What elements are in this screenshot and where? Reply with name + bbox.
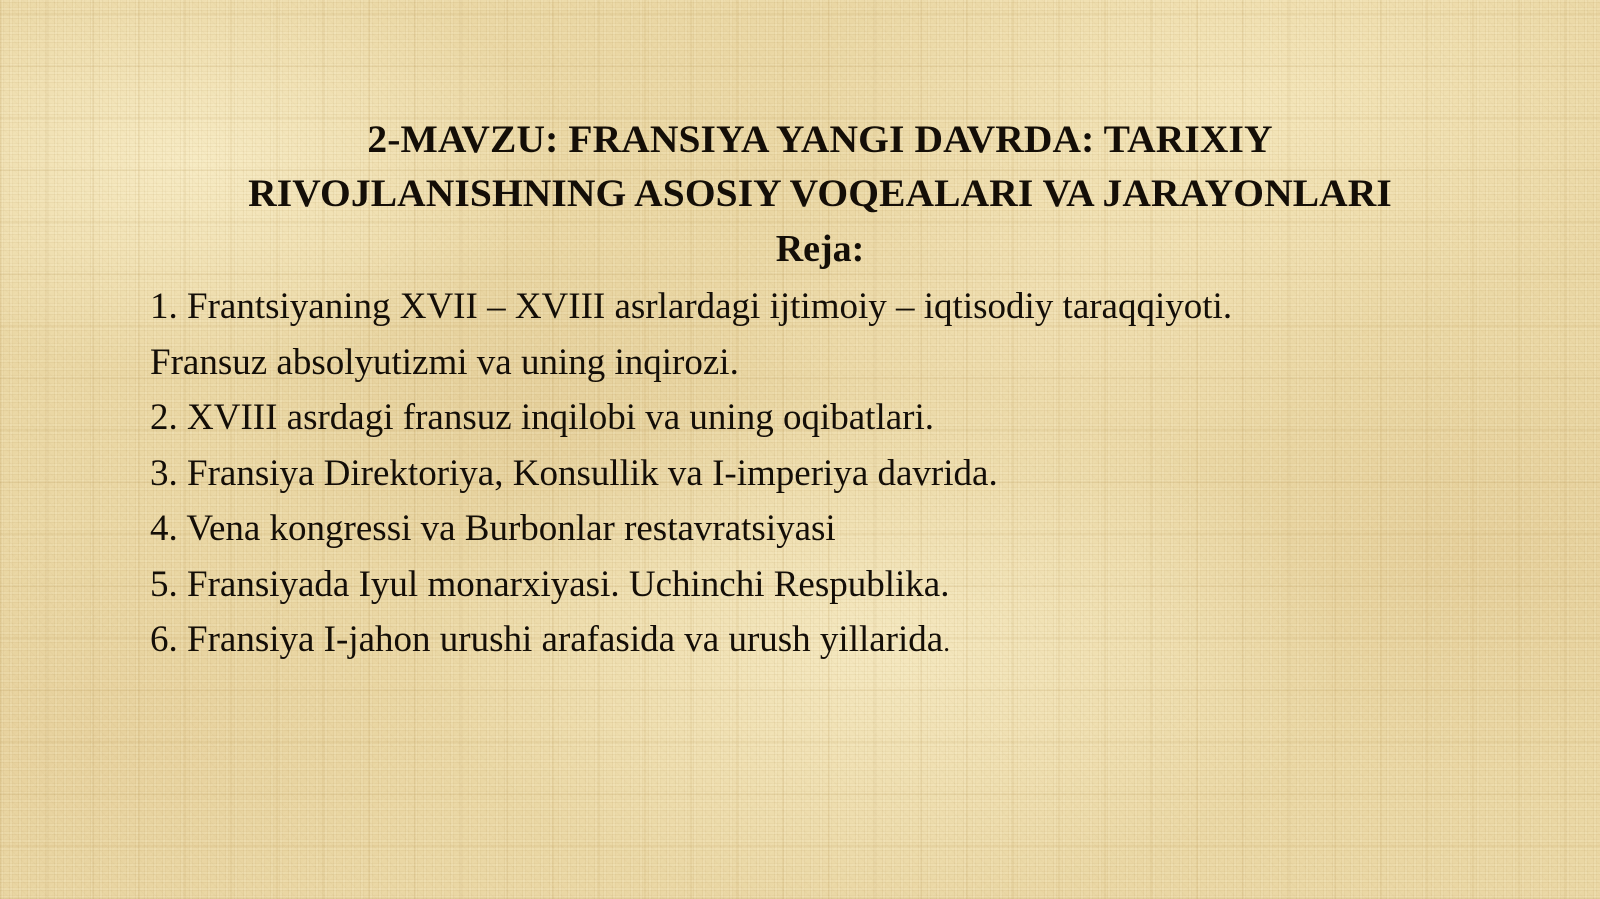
agenda-item-4: 4. Vena kongressi va Burbonlar restavrat… (150, 501, 1495, 557)
agenda-item-1b: Fransuz absolyutizmi va uning inqirozi. (150, 335, 1495, 391)
slide-title-line-2: RIVOJLANISHNING ASOSIY VOQEALARI VA JARA… (150, 166, 1490, 220)
agenda-item-6-text: 6. Fransiya I-jahon urushi arafasida va … (150, 619, 943, 660)
slide-title-line-1: 2-MAVZU: FRANSIYA YANGI DAVRDA: TARIXIY (150, 112, 1490, 166)
slide-subtitle-reja: Reja: (150, 222, 1490, 276)
agenda-item-1a-text: 1. Frantsiyaning XVII – XVIII asrlardagi… (150, 286, 1232, 327)
agenda-item-1a: 1. Frantsiyaning XVII – XVIII asrlardagi… (150, 279, 1495, 335)
presentation-slide: 2-MAVZU: FRANSIYA YANGI DAVRDA: TARIXIY … (0, 0, 1600, 899)
agenda-item-3-text: 3. Fransiya Direktoriya, Konsullik va I-… (150, 453, 998, 494)
agenda-list: 1. Frantsiyaning XVII – XVIII asrlardagi… (150, 279, 1495, 671)
agenda-item-5: 5. Fransiyada Iyul monarxiyasi. Uchinchi… (150, 557, 1495, 613)
slide-content: 2-MAVZU: FRANSIYA YANGI DAVRDA: TARIXIY … (0, 0, 1600, 899)
agenda-item-5-text: 5. Fransiyada Iyul monarxiyasi. Uchinchi… (150, 564, 949, 605)
agenda-item-4-text: 4. Vena kongressi va Burbonlar restavrat… (150, 508, 836, 549)
agenda-item-2-text: 2. XVIII asrdagi fransuz inqilobi va uni… (150, 397, 934, 438)
slide-title-block: 2-MAVZU: FRANSIYA YANGI DAVRDA: TARIXIY … (150, 112, 1490, 276)
agenda-item-3: 3. Fransiya Direktoriya, Konsullik va I-… (150, 446, 1495, 502)
agenda-item-1b-text: Fransuz absolyutizmi va uning inqirozi. (150, 342, 739, 383)
agenda-item-2: 2. XVIII asrdagi fransuz inqilobi va uni… (150, 390, 1495, 446)
agenda-item-6-trailing-period: . (943, 627, 950, 657)
agenda-item-6: 6. Fransiya I-jahon urushi arafasida va … (150, 612, 1495, 671)
